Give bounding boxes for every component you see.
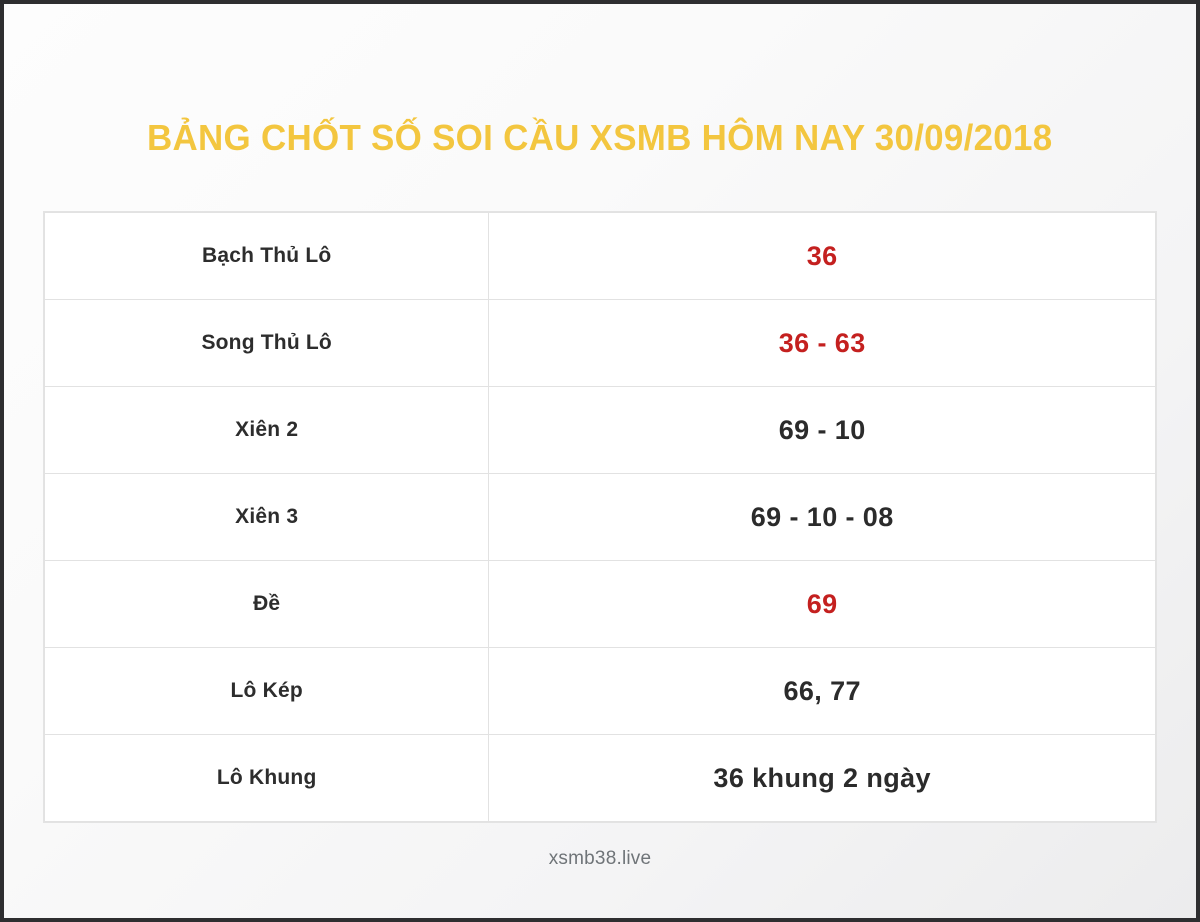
table-row: Lô Khung36 khung 2 ngày bbox=[45, 735, 1156, 822]
table-cell-label: Xiên 3 bbox=[45, 474, 489, 561]
row-value: 36 bbox=[807, 241, 838, 271]
table-row: Lô Kép66, 77 bbox=[45, 648, 1156, 735]
row-value: 69 - 10 bbox=[779, 415, 866, 445]
row-label: Song Thủ Lô bbox=[201, 331, 332, 354]
table-cell-label: Bạch Thủ Lô bbox=[45, 213, 489, 300]
row-value: 69 bbox=[807, 589, 838, 619]
table-cell-label: Xiên 2 bbox=[45, 387, 489, 474]
row-label: Xiên 2 bbox=[235, 418, 298, 441]
prediction-table-page: BẢNG CHỐT SỐ SOI CẦU XSMB HÔM NAY 30/09/… bbox=[0, 0, 1200, 922]
table-row: Bạch Thủ Lô36 bbox=[45, 213, 1156, 300]
table-cell-value: 36 bbox=[489, 213, 1156, 300]
row-label: Lô Khung bbox=[217, 766, 317, 789]
row-label: Bạch Thủ Lô bbox=[202, 244, 331, 267]
row-value: 66, 77 bbox=[783, 676, 860, 706]
table-cell-value: 66, 77 bbox=[489, 648, 1156, 735]
site-watermark: xsmb38.live bbox=[549, 848, 652, 869]
table-row: Xiên 369 - 10 - 08 bbox=[45, 474, 1156, 561]
prediction-table-container: Bạch Thủ Lô36Song Thủ Lô36 - 63Xiên 269 … bbox=[44, 212, 1156, 822]
table-row: Đề69 bbox=[45, 561, 1156, 648]
footer: xsmb38.live bbox=[4, 848, 1196, 870]
table-cell-value: 69 - 10 bbox=[489, 387, 1156, 474]
page-title: BẢNG CHỐT SỐ SOI CẦU XSMB HÔM NAY 30/09/… bbox=[147, 120, 1052, 156]
prediction-table-body: Bạch Thủ Lô36Song Thủ Lô36 - 63Xiên 269 … bbox=[45, 213, 1156, 822]
prediction-table: Bạch Thủ Lô36Song Thủ Lô36 - 63Xiên 269 … bbox=[44, 212, 1156, 822]
row-label: Xiên 3 bbox=[235, 505, 298, 528]
table-cell-value: 69 bbox=[489, 561, 1156, 648]
page-title-container: BẢNG CHỐT SỐ SOI CẦU XSMB HÔM NAY 30/09/… bbox=[4, 96, 1196, 180]
table-cell-value: 36 khung 2 ngày bbox=[489, 735, 1156, 822]
row-label: Lô Kép bbox=[231, 679, 303, 702]
row-value: 69 - 10 - 08 bbox=[751, 502, 894, 532]
table-cell-label: Đề bbox=[45, 561, 489, 648]
table-row: Xiên 269 - 10 bbox=[45, 387, 1156, 474]
table-cell-label: Song Thủ Lô bbox=[45, 300, 489, 387]
table-cell-label: Lô Khung bbox=[45, 735, 489, 822]
table-cell-label: Lô Kép bbox=[45, 648, 489, 735]
table-row: Song Thủ Lô36 - 63 bbox=[45, 300, 1156, 387]
row-label: Đề bbox=[253, 592, 280, 615]
table-cell-value: 36 - 63 bbox=[489, 300, 1156, 387]
row-value: 36 khung 2 ngày bbox=[713, 763, 931, 793]
row-value: 36 - 63 bbox=[779, 328, 866, 358]
table-cell-value: 69 - 10 - 08 bbox=[489, 474, 1156, 561]
